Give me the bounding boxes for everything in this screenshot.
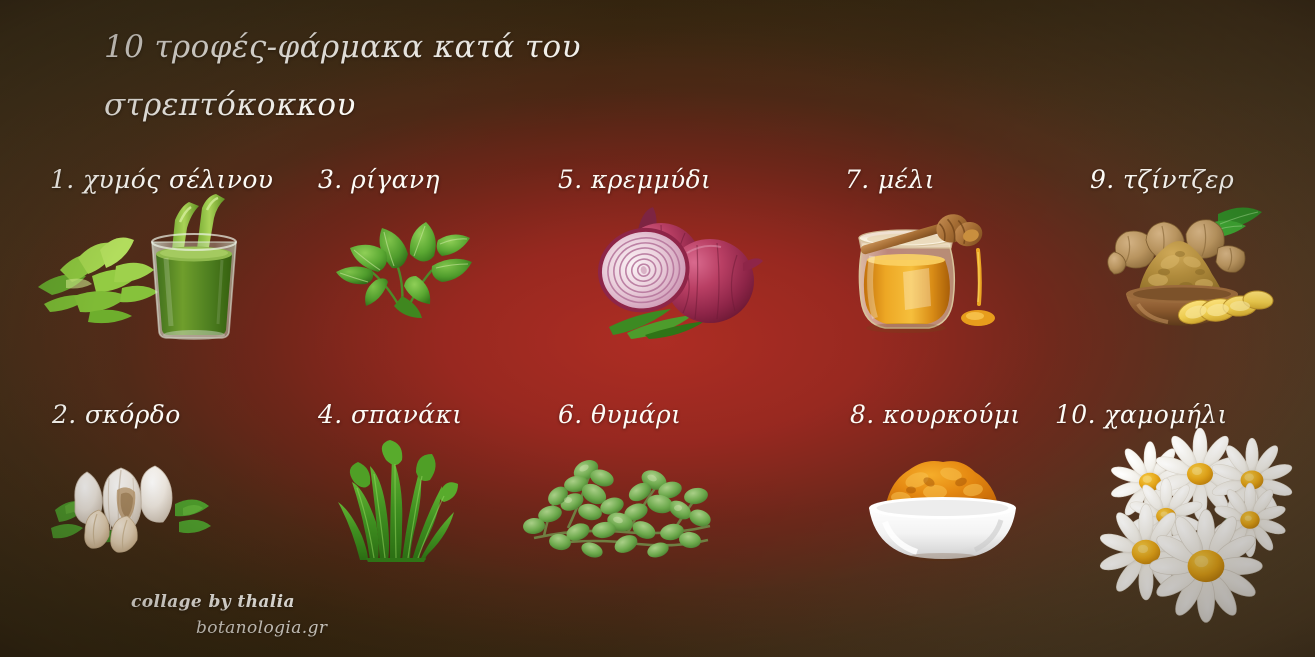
honey-jar-icon — [845, 198, 1010, 338]
title-line-1: 10 τροφές-φάρμακα κατά του — [104, 18, 804, 76]
item-label-8: 8. κουρκούμι — [850, 400, 1021, 429]
spinach-icon — [330, 440, 470, 562]
item-label-3: 3. ρίγανη — [318, 165, 440, 194]
credit-collage-by: collage by thalia — [131, 592, 295, 612]
item-label-6: 6. θυμάρι — [558, 400, 681, 429]
red-onion-icon — [575, 205, 765, 340]
item-label-7: 7. μέλι — [845, 165, 935, 194]
item-label-1: 1. χυμός σέλινου — [50, 165, 273, 194]
item-label-10: 10. χαμομήλι — [1055, 400, 1228, 429]
collage-canvas: 10 τροφές-φάρμακα κατά του στρεπτόκοκκου… — [0, 0, 1315, 657]
garlic-icon — [45, 448, 215, 563]
item-label-2: 2. σκόρδο — [52, 400, 181, 429]
item-label-4: 4. σπανάκι — [318, 400, 462, 429]
oregano-icon — [332, 210, 492, 320]
item-label-9: 9. τζίντζερ — [1090, 165, 1234, 194]
item-label-5: 5. κρεμμύδι — [558, 165, 711, 194]
title-line-2: στρεπτόκοκκου — [104, 76, 804, 134]
turmeric-bowl-icon — [855, 448, 1030, 563]
celery-juice-icon — [30, 192, 280, 340]
thyme-icon — [520, 440, 720, 560]
page-title: 10 τροφές-φάρμακα κατά του στρεπτόκοκκου — [104, 18, 804, 134]
credit-website: botanologia.gr — [196, 618, 327, 638]
chamomile-icon — [1098, 440, 1303, 612]
ginger-icon — [1100, 200, 1275, 325]
